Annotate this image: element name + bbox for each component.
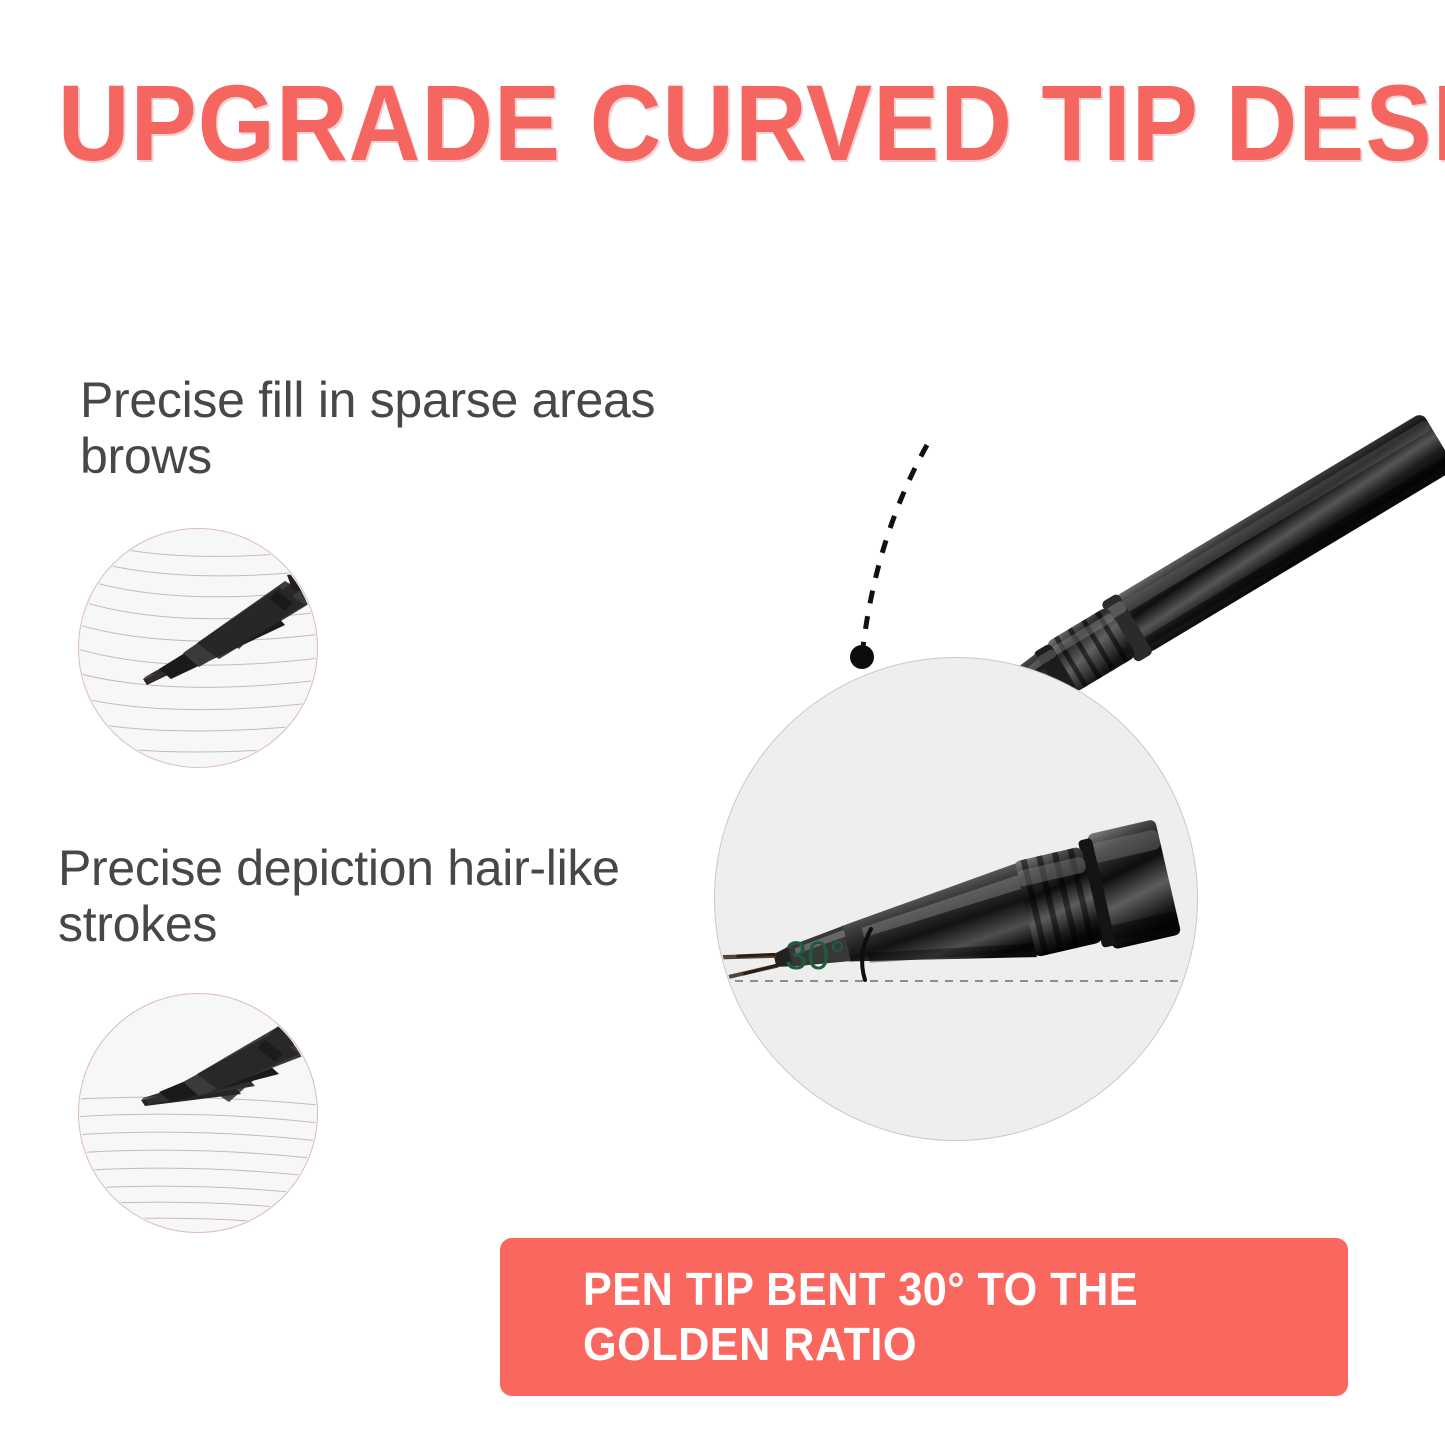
banner-line-1: PEN TIP BENT 30° TO THE	[583, 1262, 1316, 1317]
feature-1-label: Precise fill in sparse areas brows	[80, 372, 680, 484]
banner-line-2: GOLDEN RATIO	[583, 1317, 1316, 1372]
page-title: UPGRADE CURVED TIP DESIGN	[58, 64, 1387, 182]
bottom-callout-banner: PEN TIP BENT 30° TO THE GOLDEN RATIO	[500, 1238, 1348, 1396]
feature-1-illustration-circle	[78, 528, 318, 768]
magnified-tip-circle	[714, 657, 1198, 1141]
feature-2-illustration-circle	[78, 993, 318, 1233]
hair-stroke-lines	[79, 994, 317, 1232]
brow-hair-lines	[79, 529, 317, 767]
angle-label: 30°	[785, 934, 846, 979]
infographic-page: UPGRADE CURVED TIP DESIGN Precise fill i…	[0, 0, 1445, 1445]
feature-2-label: Precise depiction hair-like strokes	[58, 840, 658, 952]
